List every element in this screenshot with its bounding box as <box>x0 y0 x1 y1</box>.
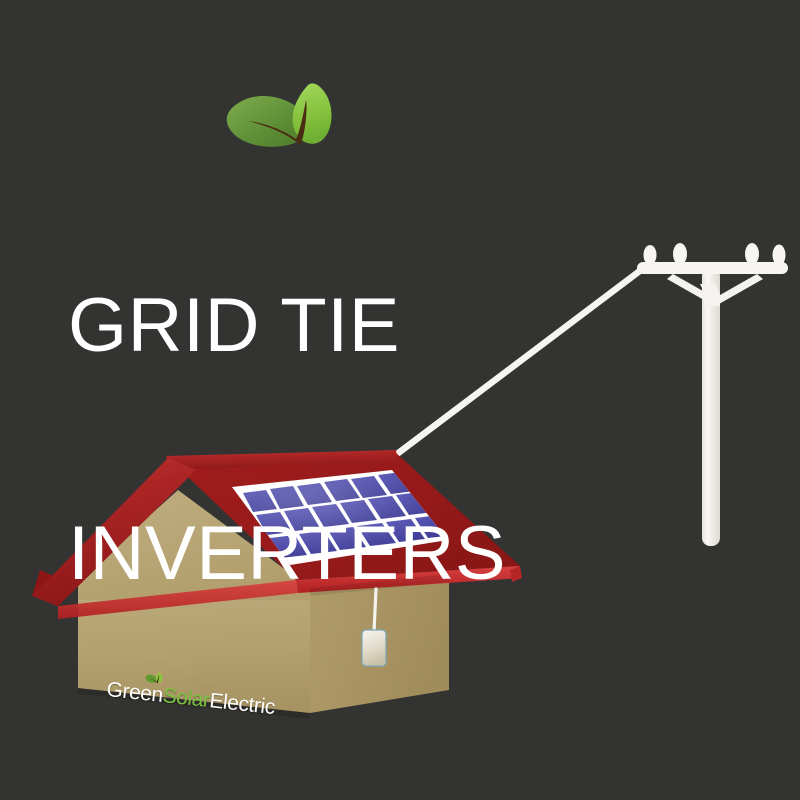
insulator-icon <box>644 245 657 265</box>
insulator-icon <box>673 243 687 265</box>
insulator-icon <box>773 245 786 266</box>
poster-canvas: GRID TIE INVERTERS GreenSolarElectric <box>0 0 800 800</box>
power-line <box>393 267 645 457</box>
inverter-drop-wire <box>374 589 376 632</box>
utility-pole-shaft <box>702 268 720 546</box>
brand-leaf-icon <box>144 669 168 689</box>
pole-brace-hub <box>704 294 720 306</box>
insulator-icon <box>745 243 759 265</box>
pole-brace-right-arm <box>713 274 763 304</box>
brand-part-solar: Solar <box>162 684 211 712</box>
utility-pole <box>637 243 788 546</box>
utility-pole-crossarm <box>637 262 788 274</box>
two-leaf-icon <box>227 83 332 147</box>
grid-tie-inverter-box <box>362 630 386 666</box>
house <box>32 450 522 719</box>
